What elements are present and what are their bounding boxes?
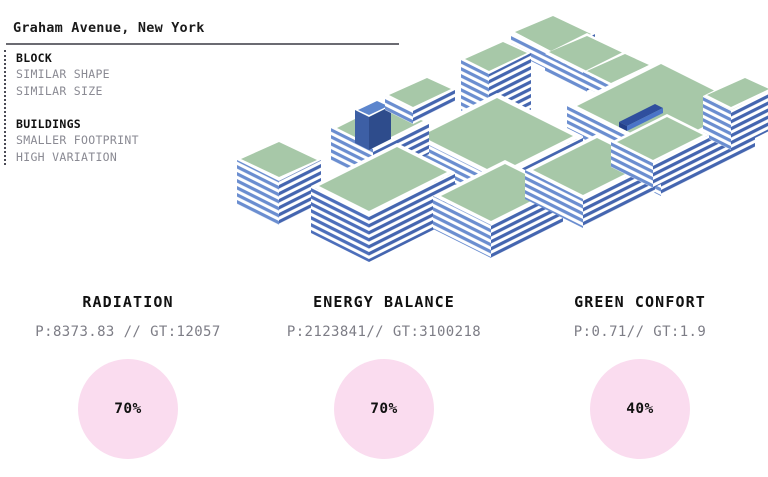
- metric-energy-balance: ENERGY BALANCE P:2123841// GT:3100218 70…: [256, 285, 512, 477]
- metric-energy-balance-values: P:2123841// GT:3100218: [287, 324, 481, 340]
- annotation-panel: BLOCK SIMILAR SHAPE SIMILAR SIZE BUILDIN…: [4, 50, 234, 165]
- metric-energy-balance-percent: 70%: [370, 401, 397, 417]
- metric-radiation-values: P:8373.83 // GT:12057: [35, 324, 220, 340]
- annotation-group-buildings: BUILDINGS SMALLER FOOTPRINT HIGH VARIATI…: [16, 116, 234, 165]
- annotation-item-block-1: SIMILAR SIZE: [16, 83, 234, 100]
- metric-green-confort-values: P:0.71// GT:1.9: [574, 324, 706, 340]
- metric-green-confort: GREEN CONFORT P:0.71// GT:1.9 40%: [512, 285, 768, 477]
- metric-radiation-title: RADIATION: [82, 293, 173, 311]
- metric-energy-balance-title: ENERGY BALANCE: [313, 293, 455, 311]
- building-cluster: [237, 13, 768, 262]
- city-model-svg: [215, 0, 768, 278]
- metric-radiation-percent: 70%: [114, 401, 141, 417]
- isometric-city-model: [215, 0, 768, 278]
- metric-energy-balance-bubble: 70%: [334, 359, 434, 459]
- metric-green-confort-percent: 40%: [626, 401, 653, 417]
- metric-radiation: RADIATION P:8373.83 // GT:12057 70%: [0, 285, 256, 477]
- annotation-item-buildings-0: SMALLER FOOTPRINT: [16, 132, 234, 149]
- metric-green-confort-bubble: 40%: [590, 359, 690, 459]
- metrics-row: RADIATION P:8373.83 // GT:12057 70% ENER…: [0, 285, 768, 477]
- annotation-spacer: [16, 99, 234, 116]
- annotation-group-block: BLOCK SIMILAR SHAPE SIMILAR SIZE: [16, 50, 234, 99]
- metric-radiation-bubble: 70%: [78, 359, 178, 459]
- building-front-left: [237, 139, 321, 226]
- page-title: Graham Avenue, New York: [13, 20, 205, 36]
- annotation-item-block-0: SIMILAR SHAPE: [16, 66, 234, 83]
- metric-green-confort-title: GREEN CONFORT: [574, 293, 706, 311]
- annotation-item-buildings-1: HIGH VARIATION: [16, 149, 234, 166]
- annotation-heading-buildings: BUILDINGS: [16, 116, 234, 132]
- annotation-heading-block: BLOCK: [16, 50, 234, 66]
